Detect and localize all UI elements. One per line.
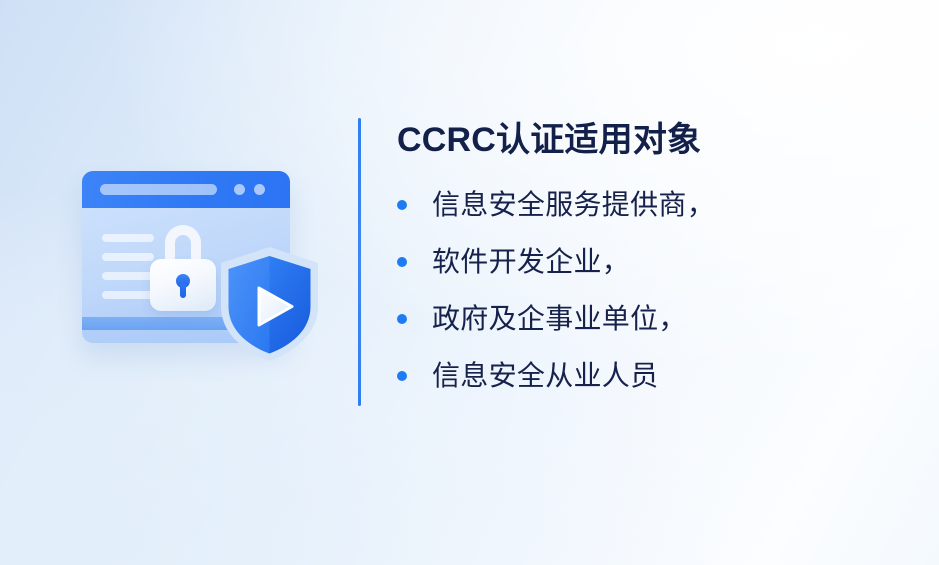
- list-item: 政府及企事业单位，: [397, 290, 897, 347]
- list-item-label: 信息安全从业人员: [432, 358, 658, 394]
- slide-canvas: CCRC认证适用对象 信息安全服务提供商， 软件开发企业， 政府及企事业单位， …: [0, 0, 939, 565]
- padlock-keyhole-stem: [180, 284, 186, 298]
- list-item: 信息安全服务提供商，: [397, 176, 897, 233]
- padlock-icon: [150, 225, 216, 311]
- content-line-1: [102, 234, 154, 242]
- list-item: 信息安全从业人员: [397, 347, 897, 404]
- vertical-divider: [358, 118, 361, 406]
- bullet-dot-icon: [397, 371, 407, 381]
- window-dot-icon-2: [254, 184, 265, 195]
- address-bar-pill-icon: [100, 184, 217, 195]
- content-line-4: [102, 291, 154, 299]
- list-item-label: 信息安全服务提供商，: [432, 187, 715, 223]
- bullet-dot-icon: [397, 200, 407, 210]
- bullet-dot-icon: [397, 257, 407, 267]
- security-browser-shield-illustration: [78, 165, 338, 375]
- page-title: CCRC认证适用对象: [397, 118, 897, 162]
- list-item: 软件开发企业，: [397, 233, 897, 290]
- bullet-dot-icon: [397, 314, 407, 324]
- list-item-label: 软件开发企业，: [432, 244, 630, 280]
- window-dot-icon-1: [234, 184, 245, 195]
- list-item-label: 政府及企事业单位，: [432, 301, 687, 337]
- content-line-3: [102, 272, 154, 280]
- padlock-body: [150, 259, 216, 311]
- text-content-block: CCRC认证适用对象 信息安全服务提供商， 软件开发企业， 政府及企事业单位， …: [397, 118, 897, 404]
- bullet-list: 信息安全服务提供商， 软件开发企业， 政府及企事业单位， 信息安全从业人员: [397, 176, 897, 404]
- shield-icon: [219, 246, 320, 362]
- content-line-2: [102, 253, 154, 261]
- browser-titlebar: [82, 171, 290, 208]
